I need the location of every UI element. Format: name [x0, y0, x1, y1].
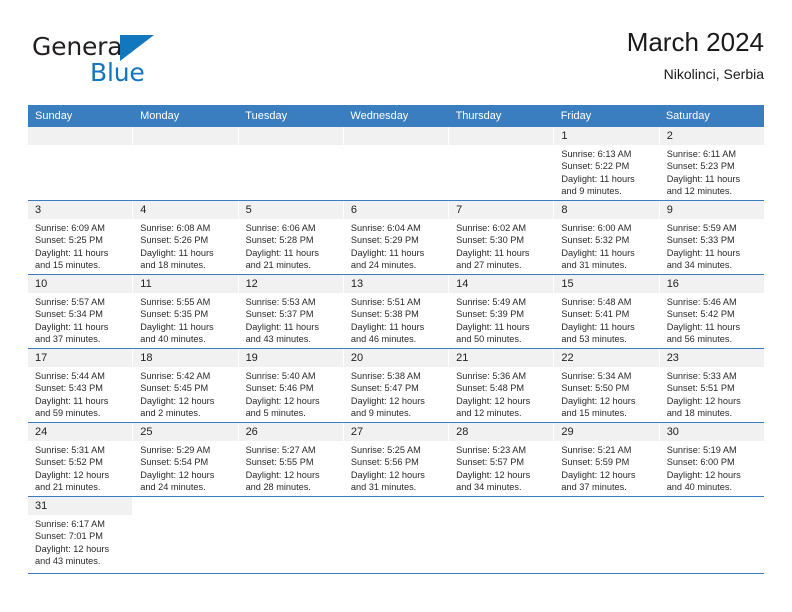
- day-daylight-2-text: and 40 minutes.: [667, 481, 759, 493]
- calendar-week-row: 17Sunrise: 5:44 AMSunset: 5:43 PMDayligh…: [28, 349, 764, 423]
- day-info: Sunrise: 5:49 AMSunset: 5:39 PMDaylight:…: [449, 293, 553, 346]
- day-sunset-text: Sunset: 5:47 PM: [351, 382, 443, 394]
- day-daylight-1-text: Daylight: 11 hours: [561, 321, 653, 333]
- weekday-header-saturday: Saturday: [659, 105, 764, 127]
- day-sunrise-text: Sunrise: 5:51 AM: [351, 296, 443, 308]
- day-sunset-text: Sunset: 5:30 PM: [456, 234, 548, 246]
- day-number: 23: [660, 349, 764, 367]
- day-daylight-2-text: and 50 minutes.: [456, 333, 548, 345]
- day-sunset-text: Sunset: 5:35 PM: [140, 308, 232, 320]
- day-daylight-1-text: Daylight: 12 hours: [351, 469, 443, 481]
- day-sunset-text: Sunset: 5:37 PM: [246, 308, 338, 320]
- day-daylight-1-text: Daylight: 11 hours: [35, 321, 127, 333]
- day-sunrise-text: Sunrise: 5:25 AM: [351, 444, 443, 456]
- day-info: Sunrise: 5:33 AMSunset: 5:51 PMDaylight:…: [660, 367, 764, 420]
- day-info: Sunrise: 6:06 AMSunset: 5:28 PMDaylight:…: [239, 219, 343, 272]
- day-daylight-2-text: and 34 minutes.: [667, 259, 759, 271]
- day-daylight-1-text: Daylight: 11 hours: [140, 321, 232, 333]
- calendar-page: General Blue March 2024 Nikolinci, Serbi…: [0, 0, 792, 612]
- day-daylight-2-text: and 56 minutes.: [667, 333, 759, 345]
- day-number: 24: [28, 423, 132, 441]
- calendar-day-cell-empty: [239, 127, 344, 200]
- day-daylight-1-text: Daylight: 11 hours: [667, 321, 759, 333]
- day-sunrise-text: Sunrise: 5:40 AM: [246, 370, 338, 382]
- day-number: 9: [660, 201, 764, 219]
- weekday-header-row: Sunday Monday Tuesday Wednesday Thursday…: [28, 105, 764, 127]
- day-info: Sunrise: 5:36 AMSunset: 5:48 PMDaylight:…: [449, 367, 553, 420]
- day-daylight-1-text: Daylight: 11 hours: [667, 173, 759, 185]
- day-daylight-2-text: and 43 minutes.: [246, 333, 338, 345]
- day-sunset-text: Sunset: 5:26 PM: [140, 234, 232, 246]
- calendar-day-cell[interactable]: 18Sunrise: 5:42 AMSunset: 5:45 PMDayligh…: [133, 349, 238, 422]
- day-number: 22: [554, 349, 658, 367]
- day-daylight-1-text: Daylight: 11 hours: [246, 321, 338, 333]
- day-sunset-text: Sunset: 6:00 PM: [667, 456, 759, 468]
- day-info: Sunrise: 6:13 AMSunset: 5:22 PMDaylight:…: [554, 145, 658, 198]
- calendar-day-cell[interactable]: 12Sunrise: 5:53 AMSunset: 5:37 PMDayligh…: [239, 275, 344, 348]
- day-info: Sunrise: 5:19 AMSunset: 6:00 PMDaylight:…: [660, 441, 764, 494]
- calendar-grid: Sunday Monday Tuesday Wednesday Thursday…: [28, 105, 764, 574]
- day-daylight-2-text: and 24 minutes.: [351, 259, 443, 271]
- day-sunset-text: Sunset: 5:46 PM: [246, 382, 338, 394]
- day-daylight-2-text: and 46 minutes.: [351, 333, 443, 345]
- title-block: March 2024 Nikolinci, Serbia: [627, 26, 764, 84]
- calendar-day-cell-empty: [449, 497, 554, 573]
- day-daylight-1-text: Daylight: 11 hours: [246, 247, 338, 259]
- day-info: Sunrise: 5:42 AMSunset: 5:45 PMDaylight:…: [133, 367, 237, 420]
- day-info: Sunrise: 5:46 AMSunset: 5:42 PMDaylight:…: [660, 293, 764, 346]
- day-sunset-text: Sunset: 5:34 PM: [35, 308, 127, 320]
- day-daylight-1-text: Daylight: 11 hours: [351, 247, 443, 259]
- day-sunrise-text: Sunrise: 6:02 AM: [456, 222, 548, 234]
- day-daylight-1-text: Daylight: 12 hours: [35, 543, 127, 555]
- day-info: Sunrise: 6:00 AMSunset: 5:32 PMDaylight:…: [554, 219, 658, 272]
- day-number: 16: [660, 275, 764, 293]
- weekday-header-monday: Monday: [133, 105, 238, 127]
- day-daylight-1-text: Daylight: 12 hours: [140, 395, 232, 407]
- day-info: Sunrise: 6:11 AMSunset: 5:23 PMDaylight:…: [660, 145, 764, 198]
- day-number: 3: [28, 201, 132, 219]
- day-daylight-1-text: Daylight: 11 hours: [140, 247, 232, 259]
- calendar-day-cell[interactable]: 11Sunrise: 5:55 AMSunset: 5:35 PMDayligh…: [133, 275, 238, 348]
- day-number: [28, 127, 132, 145]
- calendar-day-cell-empty: [660, 497, 764, 573]
- calendar-day-cell[interactable]: 27Sunrise: 5:25 AMSunset: 5:56 PMDayligh…: [344, 423, 449, 496]
- calendar-day-cell[interactable]: 30Sunrise: 5:19 AMSunset: 6:00 PMDayligh…: [660, 423, 764, 496]
- day-info: Sunrise: 5:57 AMSunset: 5:34 PMDaylight:…: [28, 293, 132, 346]
- day-daylight-1-text: Daylight: 11 hours: [561, 173, 653, 185]
- day-daylight-1-text: Daylight: 12 hours: [667, 395, 759, 407]
- weekday-header-friday: Friday: [554, 105, 659, 127]
- calendar-day-cell[interactable]: 3Sunrise: 6:09 AMSunset: 5:25 PMDaylight…: [28, 201, 133, 274]
- day-daylight-2-text: and 15 minutes.: [35, 259, 127, 271]
- day-daylight-2-text: and 37 minutes.: [35, 333, 127, 345]
- day-daylight-2-text: and 18 minutes.: [667, 407, 759, 419]
- calendar-day-cell[interactable]: 22Sunrise: 5:34 AMSunset: 5:50 PMDayligh…: [554, 349, 659, 422]
- calendar-day-cell[interactable]: 26Sunrise: 5:27 AMSunset: 5:55 PMDayligh…: [239, 423, 344, 496]
- calendar-day-cell[interactable]: 24Sunrise: 5:31 AMSunset: 5:52 PMDayligh…: [28, 423, 133, 496]
- day-sunset-text: Sunset: 5:50 PM: [561, 382, 653, 394]
- calendar-day-cell-empty: [239, 497, 344, 573]
- day-info: Sunrise: 5:40 AMSunset: 5:46 PMDaylight:…: [239, 367, 343, 420]
- day-sunrise-text: Sunrise: 5:57 AM: [35, 296, 127, 308]
- day-number: 12: [239, 275, 343, 293]
- day-number: 13: [344, 275, 448, 293]
- day-sunrise-text: Sunrise: 5:44 AM: [35, 370, 127, 382]
- day-number: [239, 127, 343, 145]
- day-daylight-2-text: and 43 minutes.: [35, 555, 127, 567]
- calendar-day-cell[interactable]: 15Sunrise: 5:48 AMSunset: 5:41 PMDayligh…: [554, 275, 659, 348]
- day-daylight-2-text: and 40 minutes.: [140, 333, 232, 345]
- day-daylight-1-text: Daylight: 11 hours: [35, 395, 127, 407]
- calendar-week-row: 3Sunrise: 6:09 AMSunset: 5:25 PMDaylight…: [28, 201, 764, 275]
- day-info: Sunrise: 5:44 AMSunset: 5:43 PMDaylight:…: [28, 367, 132, 420]
- day-number: 1: [554, 127, 658, 145]
- day-daylight-1-text: Daylight: 11 hours: [561, 247, 653, 259]
- calendar-week-row: 10Sunrise: 5:57 AMSunset: 5:34 PMDayligh…: [28, 275, 764, 349]
- calendar-day-cell[interactable]: 1Sunrise: 6:13 AMSunset: 5:22 PMDaylight…: [554, 127, 659, 200]
- day-sunrise-text: Sunrise: 6:11 AM: [667, 148, 759, 160]
- calendar-day-cell[interactable]: 29Sunrise: 5:21 AMSunset: 5:59 PMDayligh…: [554, 423, 659, 496]
- day-number: 10: [28, 275, 132, 293]
- day-sunrise-text: Sunrise: 6:17 AM: [35, 518, 127, 530]
- day-sunset-text: Sunset: 5:52 PM: [35, 456, 127, 468]
- day-number: 25: [133, 423, 237, 441]
- day-number: 26: [239, 423, 343, 441]
- calendar-day-cell[interactable]: 14Sunrise: 5:49 AMSunset: 5:39 PMDayligh…: [449, 275, 554, 348]
- day-sunrise-text: Sunrise: 6:09 AM: [35, 222, 127, 234]
- page-title: March 2024: [627, 26, 764, 58]
- day-daylight-2-text: and 31 minutes.: [351, 481, 443, 493]
- day-daylight-1-text: Daylight: 12 hours: [667, 469, 759, 481]
- day-sunrise-text: Sunrise: 5:46 AM: [667, 296, 759, 308]
- day-daylight-1-text: Daylight: 11 hours: [351, 321, 443, 333]
- day-number: 14: [449, 275, 553, 293]
- day-sunset-text: Sunset: 5:23 PM: [667, 160, 759, 172]
- calendar-day-cell[interactable]: 8Sunrise: 6:00 AMSunset: 5:32 PMDaylight…: [554, 201, 659, 274]
- weekday-header-thursday: Thursday: [449, 105, 554, 127]
- weekday-header-sunday: Sunday: [28, 105, 133, 127]
- day-daylight-2-text: and 53 minutes.: [561, 333, 653, 345]
- calendar-day-cell-empty: [344, 127, 449, 200]
- calendar-day-cell[interactable]: 7Sunrise: 6:02 AMSunset: 5:30 PMDaylight…: [449, 201, 554, 274]
- day-number: [133, 127, 237, 145]
- day-daylight-2-text: and 27 minutes.: [456, 259, 548, 271]
- day-sunrise-text: Sunrise: 6:06 AM: [246, 222, 338, 234]
- day-daylight-1-text: Daylight: 11 hours: [456, 321, 548, 333]
- calendar-day-cell[interactable]: 23Sunrise: 5:33 AMSunset: 5:51 PMDayligh…: [660, 349, 764, 422]
- day-number: 5: [239, 201, 343, 219]
- weeks-container: 1Sunrise: 6:13 AMSunset: 5:22 PMDaylight…: [28, 127, 764, 574]
- day-sunrise-text: Sunrise: 5:23 AM: [456, 444, 548, 456]
- day-sunset-text: Sunset: 7:01 PM: [35, 530, 127, 542]
- day-sunset-text: Sunset: 5:39 PM: [456, 308, 548, 320]
- logo-text-general: General: [32, 32, 129, 61]
- day-daylight-1-text: Daylight: 12 hours: [246, 469, 338, 481]
- day-sunrise-text: Sunrise: 5:55 AM: [140, 296, 232, 308]
- day-daylight-1-text: Daylight: 12 hours: [246, 395, 338, 407]
- calendar-week-row: 24Sunrise: 5:31 AMSunset: 5:52 PMDayligh…: [28, 423, 764, 497]
- day-sunset-text: Sunset: 5:41 PM: [561, 308, 653, 320]
- calendar-day-cell[interactable]: 5Sunrise: 6:06 AMSunset: 5:28 PMDaylight…: [239, 201, 344, 274]
- logo-text-blue: Blue: [90, 58, 145, 87]
- calendar-day-cell[interactable]: 10Sunrise: 5:57 AMSunset: 5:34 PMDayligh…: [28, 275, 133, 348]
- day-sunset-text: Sunset: 5:32 PM: [561, 234, 653, 246]
- day-sunset-text: Sunset: 5:29 PM: [351, 234, 443, 246]
- calendar-day-cell-empty: [554, 497, 659, 573]
- day-daylight-1-text: Daylight: 12 hours: [561, 469, 653, 481]
- day-daylight-2-text: and 9 minutes.: [561, 185, 653, 197]
- calendar-day-cell[interactable]: 9Sunrise: 5:59 AMSunset: 5:33 PMDaylight…: [660, 201, 764, 274]
- day-number: 21: [449, 349, 553, 367]
- day-number: 30: [660, 423, 764, 441]
- day-sunset-text: Sunset: 5:54 PM: [140, 456, 232, 468]
- day-info: Sunrise: 5:53 AMSunset: 5:37 PMDaylight:…: [239, 293, 343, 346]
- day-sunset-text: Sunset: 5:25 PM: [35, 234, 127, 246]
- calendar-day-cell[interactable]: 17Sunrise: 5:44 AMSunset: 5:43 PMDayligh…: [28, 349, 133, 422]
- day-sunset-text: Sunset: 5:56 PM: [351, 456, 443, 468]
- day-sunset-text: Sunset: 5:55 PM: [246, 456, 338, 468]
- day-daylight-2-text: and 2 minutes.: [140, 407, 232, 419]
- day-sunrise-text: Sunrise: 5:53 AM: [246, 296, 338, 308]
- day-sunset-text: Sunset: 5:57 PM: [456, 456, 548, 468]
- calendar-day-cell-empty: [449, 127, 554, 200]
- calendar-day-cell[interactable]: 2Sunrise: 6:11 AMSunset: 5:23 PMDaylight…: [660, 127, 764, 200]
- day-daylight-2-text: and 12 minutes.: [667, 185, 759, 197]
- day-daylight-1-text: Daylight: 12 hours: [456, 395, 548, 407]
- day-daylight-2-text: and 21 minutes.: [35, 481, 127, 493]
- day-sunset-text: Sunset: 5:33 PM: [667, 234, 759, 246]
- day-sunrise-text: Sunrise: 5:38 AM: [351, 370, 443, 382]
- day-sunset-text: Sunset: 5:28 PM: [246, 234, 338, 246]
- day-daylight-2-text: and 59 minutes.: [35, 407, 127, 419]
- calendar-day-cell[interactable]: 13Sunrise: 5:51 AMSunset: 5:38 PMDayligh…: [344, 275, 449, 348]
- day-sunrise-text: Sunrise: 5:29 AM: [140, 444, 232, 456]
- day-sunrise-text: Sunrise: 5:33 AM: [667, 370, 759, 382]
- day-number: 31: [28, 497, 132, 515]
- day-daylight-1-text: Daylight: 12 hours: [561, 395, 653, 407]
- calendar-day-cell[interactable]: 20Sunrise: 5:38 AMSunset: 5:47 PMDayligh…: [344, 349, 449, 422]
- day-daylight-2-text: and 12 minutes.: [456, 407, 548, 419]
- calendar-day-cell[interactable]: 21Sunrise: 5:36 AMSunset: 5:48 PMDayligh…: [449, 349, 554, 422]
- day-number: 8: [554, 201, 658, 219]
- day-info: Sunrise: 6:17 AMSunset: 7:01 PMDaylight:…: [28, 515, 132, 568]
- day-sunset-text: Sunset: 5:51 PM: [667, 382, 759, 394]
- day-daylight-2-text: and 28 minutes.: [246, 481, 338, 493]
- day-daylight-1-text: Daylight: 11 hours: [667, 247, 759, 259]
- day-number: 2: [660, 127, 764, 145]
- day-number: 4: [133, 201, 237, 219]
- calendar-week-row: 1Sunrise: 6:13 AMSunset: 5:22 PMDaylight…: [28, 127, 764, 201]
- day-info: Sunrise: 5:34 AMSunset: 5:50 PMDaylight:…: [554, 367, 658, 420]
- day-info: Sunrise: 6:02 AMSunset: 5:30 PMDaylight:…: [449, 219, 553, 272]
- day-daylight-1-text: Daylight: 12 hours: [140, 469, 232, 481]
- day-sunset-text: Sunset: 5:43 PM: [35, 382, 127, 394]
- day-sunset-text: Sunset: 5:42 PM: [667, 308, 759, 320]
- day-number: 27: [344, 423, 448, 441]
- calendar-day-cell[interactable]: 28Sunrise: 5:23 AMSunset: 5:57 PMDayligh…: [449, 423, 554, 496]
- day-info: Sunrise: 5:59 AMSunset: 5:33 PMDaylight:…: [660, 219, 764, 272]
- day-daylight-2-text: and 31 minutes.: [561, 259, 653, 271]
- day-sunrise-text: Sunrise: 5:48 AM: [561, 296, 653, 308]
- general-blue-logo[interactable]: General Blue: [32, 32, 262, 92]
- day-sunrise-text: Sunrise: 6:00 AM: [561, 222, 653, 234]
- day-daylight-2-text: and 5 minutes.: [246, 407, 338, 419]
- calendar-day-cell-empty: [133, 497, 238, 573]
- day-number: 7: [449, 201, 553, 219]
- page-header: General Blue March 2024 Nikolinci, Serbi…: [28, 26, 764, 98]
- day-info: Sunrise: 5:55 AMSunset: 5:35 PMDaylight:…: [133, 293, 237, 346]
- day-daylight-2-text: and 21 minutes.: [246, 259, 338, 271]
- day-number: 19: [239, 349, 343, 367]
- day-daylight-2-text: and 24 minutes.: [140, 481, 232, 493]
- calendar-day-cell[interactable]: 16Sunrise: 5:46 AMSunset: 5:42 PMDayligh…: [660, 275, 764, 348]
- day-daylight-1-text: Daylight: 12 hours: [35, 469, 127, 481]
- weekday-header-wednesday: Wednesday: [343, 105, 448, 127]
- day-daylight-2-text: and 15 minutes.: [561, 407, 653, 419]
- day-info: Sunrise: 6:08 AMSunset: 5:26 PMDaylight:…: [133, 219, 237, 272]
- day-sunrise-text: Sunrise: 5:27 AM: [246, 444, 338, 456]
- day-sunset-text: Sunset: 5:38 PM: [351, 308, 443, 320]
- day-number: 15: [554, 275, 658, 293]
- day-info: Sunrise: 5:31 AMSunset: 5:52 PMDaylight:…: [28, 441, 132, 494]
- day-info: Sunrise: 5:27 AMSunset: 5:55 PMDaylight:…: [239, 441, 343, 494]
- calendar-day-cell-empty: [133, 127, 238, 200]
- day-daylight-2-text: and 9 minutes.: [351, 407, 443, 419]
- day-info: Sunrise: 6:04 AMSunset: 5:29 PMDaylight:…: [344, 219, 448, 272]
- day-sunset-text: Sunset: 5:59 PM: [561, 456, 653, 468]
- day-sunrise-text: Sunrise: 5:59 AM: [667, 222, 759, 234]
- day-number: 29: [554, 423, 658, 441]
- day-number: 17: [28, 349, 132, 367]
- day-sunrise-text: Sunrise: 5:49 AM: [456, 296, 548, 308]
- day-info: Sunrise: 5:29 AMSunset: 5:54 PMDaylight:…: [133, 441, 237, 494]
- day-sunrise-text: Sunrise: 5:19 AM: [667, 444, 759, 456]
- weekday-header-tuesday: Tuesday: [238, 105, 343, 127]
- day-daylight-1-text: Daylight: 11 hours: [35, 247, 127, 259]
- day-daylight-2-text: and 34 minutes.: [456, 481, 548, 493]
- day-daylight-1-text: Daylight: 12 hours: [351, 395, 443, 407]
- calendar-day-cell-empty: [344, 497, 449, 573]
- day-sunrise-text: Sunrise: 5:34 AM: [561, 370, 653, 382]
- day-info: Sunrise: 5:48 AMSunset: 5:41 PMDaylight:…: [554, 293, 658, 346]
- day-info: Sunrise: 5:25 AMSunset: 5:56 PMDaylight:…: [344, 441, 448, 494]
- day-number: [344, 127, 448, 145]
- day-sunrise-text: Sunrise: 5:21 AM: [561, 444, 653, 456]
- day-sunset-text: Sunset: 5:22 PM: [561, 160, 653, 172]
- calendar-day-cell[interactable]: 6Sunrise: 6:04 AMSunset: 5:29 PMDaylight…: [344, 201, 449, 274]
- calendar-day-cell[interactable]: 4Sunrise: 6:08 AMSunset: 5:26 PMDaylight…: [133, 201, 238, 274]
- day-info: Sunrise: 5:23 AMSunset: 5:57 PMDaylight:…: [449, 441, 553, 494]
- day-daylight-1-text: Daylight: 12 hours: [456, 469, 548, 481]
- day-daylight-2-text: and 18 minutes.: [140, 259, 232, 271]
- day-sunrise-text: Sunrise: 6:13 AM: [561, 148, 653, 160]
- day-sunrise-text: Sunrise: 6:08 AM: [140, 222, 232, 234]
- day-number: 28: [449, 423, 553, 441]
- day-sunset-text: Sunset: 5:48 PM: [456, 382, 548, 394]
- calendar-day-cell[interactable]: 25Sunrise: 5:29 AMSunset: 5:54 PMDayligh…: [133, 423, 238, 496]
- day-sunset-text: Sunset: 5:45 PM: [140, 382, 232, 394]
- day-daylight-1-text: Daylight: 11 hours: [456, 247, 548, 259]
- day-info: Sunrise: 5:38 AMSunset: 5:47 PMDaylight:…: [344, 367, 448, 420]
- day-sunrise-text: Sunrise: 5:36 AM: [456, 370, 548, 382]
- day-number: 11: [133, 275, 237, 293]
- calendar-day-cell-empty: [28, 127, 133, 200]
- day-sunrise-text: Sunrise: 5:31 AM: [35, 444, 127, 456]
- day-info: Sunrise: 6:09 AMSunset: 5:25 PMDaylight:…: [28, 219, 132, 272]
- day-number: 6: [344, 201, 448, 219]
- day-info: Sunrise: 5:51 AMSunset: 5:38 PMDaylight:…: [344, 293, 448, 346]
- calendar-day-cell[interactable]: 19Sunrise: 5:40 AMSunset: 5:46 PMDayligh…: [239, 349, 344, 422]
- day-sunrise-text: Sunrise: 6:04 AM: [351, 222, 443, 234]
- day-number: [449, 127, 553, 145]
- calendar-week-row: 31Sunrise: 6:17 AMSunset: 7:01 PMDayligh…: [28, 497, 764, 574]
- day-daylight-2-text: and 37 minutes.: [561, 481, 653, 493]
- day-number: 20: [344, 349, 448, 367]
- calendar-day-cell[interactable]: 31Sunrise: 6:17 AMSunset: 7:01 PMDayligh…: [28, 497, 133, 573]
- day-number: 18: [133, 349, 237, 367]
- day-sunrise-text: Sunrise: 5:42 AM: [140, 370, 232, 382]
- day-info: Sunrise: 5:21 AMSunset: 5:59 PMDaylight:…: [554, 441, 658, 494]
- page-subtitle: Nikolinci, Serbia: [627, 64, 764, 84]
